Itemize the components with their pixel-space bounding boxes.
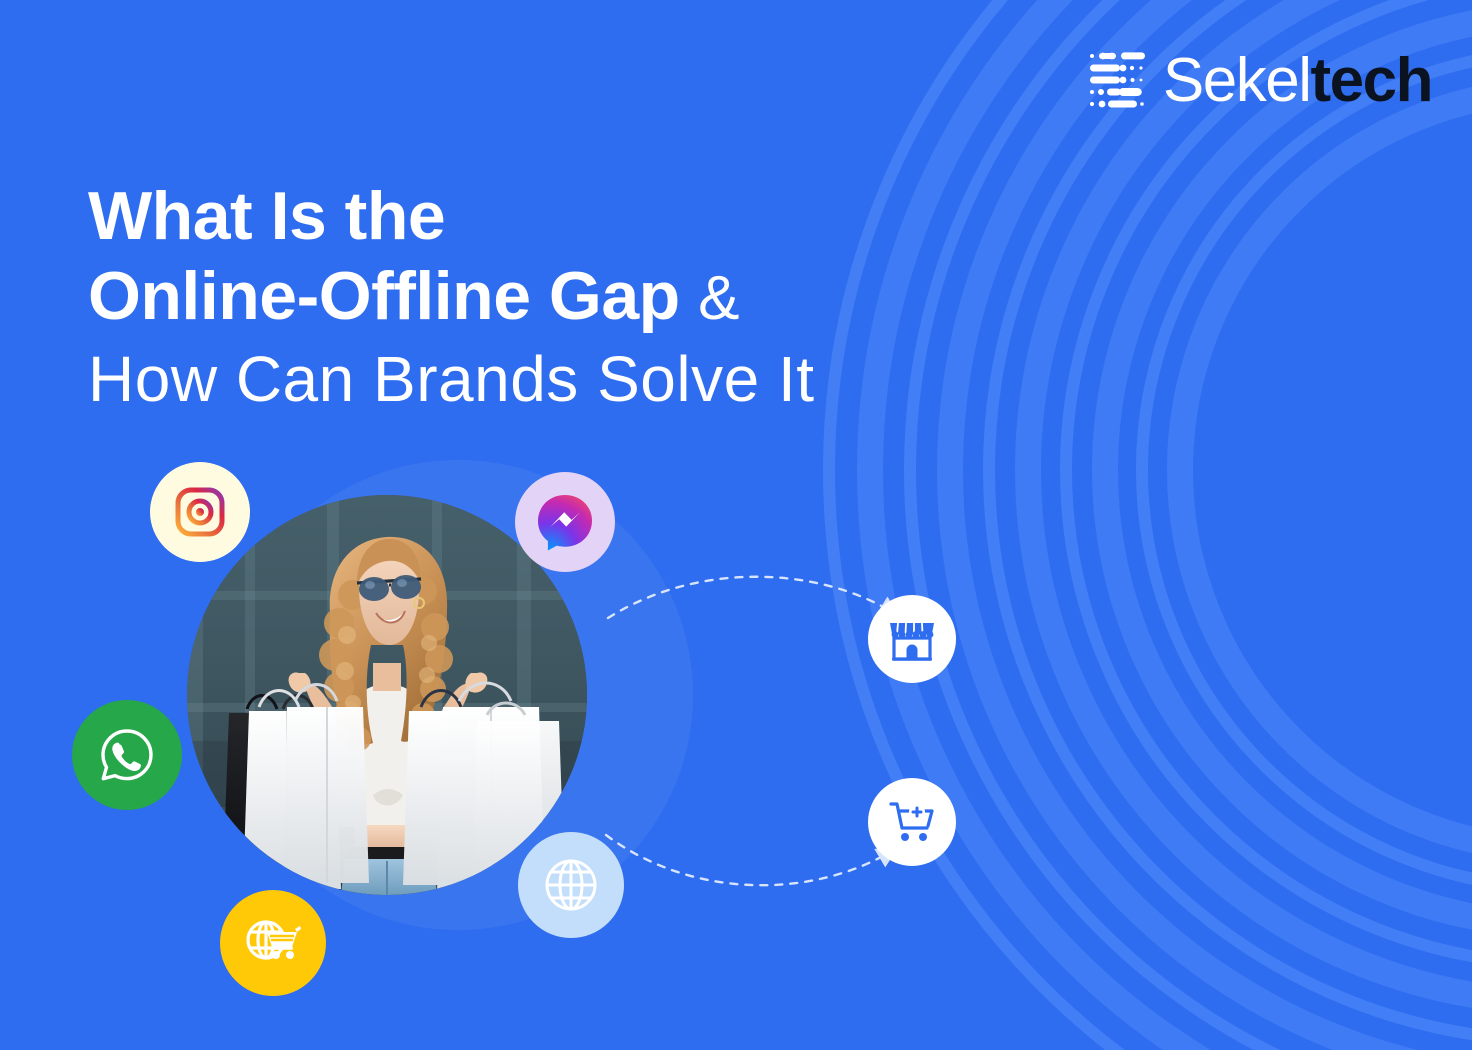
messenger-icon bbox=[535, 492, 595, 552]
cart-plus-icon bbox=[888, 799, 936, 845]
brand-wordmark-tech: tech bbox=[1311, 46, 1432, 115]
sekel-tech-logo-mark-icon bbox=[1089, 50, 1145, 112]
brand-wordmark-sekel: Sekel bbox=[1163, 46, 1311, 115]
badge-ecommerce[interactable] bbox=[220, 890, 326, 996]
hero-illustration bbox=[60, 440, 1020, 1000]
dashed-arrow-to-cart bbox=[606, 835, 890, 885]
headline-line-1: What Is the bbox=[88, 176, 988, 256]
badge-globe[interactable] bbox=[518, 832, 624, 938]
globe-icon bbox=[542, 856, 600, 914]
badge-offline-store[interactable] bbox=[868, 595, 956, 683]
badge-messenger[interactable] bbox=[515, 472, 615, 572]
badge-whatsapp[interactable] bbox=[72, 700, 182, 810]
headline-line-2: Online-Offline Gap & bbox=[88, 256, 988, 336]
brand-logo[interactable]: Sekeltech bbox=[1089, 50, 1432, 112]
globe-cart-icon bbox=[241, 913, 305, 973]
storefront-icon bbox=[888, 617, 936, 661]
whatsapp-icon bbox=[95, 723, 159, 787]
instagram-icon bbox=[173, 485, 227, 539]
badge-add-to-cart[interactable] bbox=[868, 778, 956, 866]
page-title: What Is the Online-Offline Gap & How Can… bbox=[88, 176, 988, 418]
headline-line-3: How Can Brands Solve It bbox=[88, 342, 988, 418]
banner-canvas: Sekeltech What Is the Online-Offline Gap… bbox=[0, 0, 1472, 1050]
brand-wordmark: Sekeltech bbox=[1163, 50, 1432, 112]
headline-ampersand: & bbox=[698, 264, 739, 333]
headline-line-2-main: Online-Offline Gap bbox=[88, 258, 680, 334]
badge-instagram[interactable] bbox=[150, 462, 250, 562]
